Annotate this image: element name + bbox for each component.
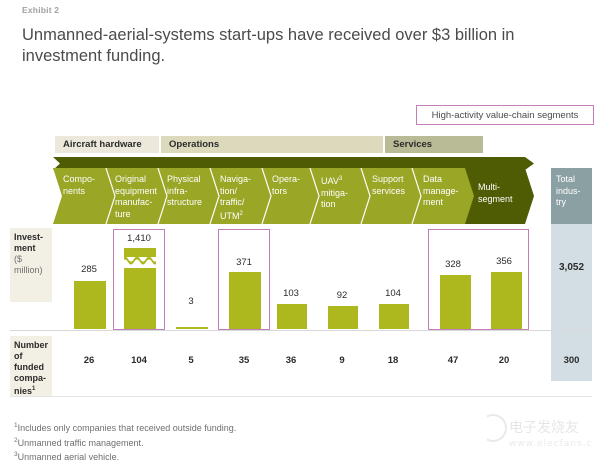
column-header-multi-segment[interactable]: Multi- segment: [478, 168, 528, 224]
column-header-data-management[interactable]: Data manage- ment: [423, 168, 469, 224]
count-multi-segment: 20: [481, 355, 527, 366]
count-oem: 104: [113, 355, 165, 366]
footnote-2: 2Unmanned traffic management.: [14, 435, 236, 450]
count-components: 26: [63, 355, 115, 366]
column-header-total-industry[interactable]: Total indus- try: [551, 168, 592, 224]
group-band-label: Aircraft hardware: [63, 139, 142, 150]
count-physical-infrastructure: 5: [165, 355, 217, 366]
bar-value-oem: 1,410: [113, 233, 165, 244]
footnotes: 1Includes only companies that received o…: [14, 420, 236, 464]
bar-value-navigation: 371: [218, 257, 270, 268]
bar-value-data-management: 328: [430, 259, 476, 270]
bar-value-operators: 103: [269, 288, 313, 299]
bar-navigation: [229, 272, 261, 329]
count-uav-mitigation: 9: [320, 355, 364, 366]
watermark: 电子发烧友 www.elecfans.com: [487, 408, 593, 456]
page-title: Unmanned-aerial-systems start-ups have r…: [22, 25, 562, 67]
count-support-services: 18: [371, 355, 415, 366]
footer-divider: [10, 396, 592, 397]
column-header-oem[interactable]: Original equipment manufac- ture: [115, 168, 163, 224]
svg-text:电子发烧友: 电子发烧友: [509, 420, 579, 436]
broken-axis-squiggle: [122, 255, 158, 273]
column-header-operators[interactable]: Opera- tors: [272, 168, 314, 224]
legend-high-activity: High-activity value-chain segments: [416, 105, 594, 125]
group-band-services: Services: [385, 136, 483, 153]
column-header-physical-infrastructure[interactable]: Physical infra- structure: [167, 168, 213, 224]
count-data-management: 47: [430, 355, 476, 366]
svg-text:www.elecfans.com: www.elecfans.com: [509, 439, 593, 449]
group-band-label: Operations: [169, 139, 219, 150]
legend-label: High-activity value-chain segments: [432, 110, 579, 121]
bar-multi-segment: [491, 272, 522, 329]
bar-components: [74, 281, 106, 329]
bar-support-services: [379, 304, 409, 329]
count-navigation: 35: [218, 355, 270, 366]
group-band-label: Services: [393, 139, 432, 150]
bar-operators: [277, 304, 307, 329]
count-operators: 36: [269, 355, 313, 366]
total-investment-value: 3,052: [551, 262, 592, 273]
column-header-navigation-traffic-utm[interactable]: Naviga- tion/ traffic/ UTM2: [220, 168, 266, 224]
bar-value-multi-segment: 356: [481, 256, 527, 267]
column-header-row: Compo- nents Original equipment manufac-…: [53, 168, 534, 224]
bar-value-components: 285: [63, 264, 115, 275]
axis-baseline: [10, 330, 592, 331]
bar-value-support-services: 104: [371, 288, 415, 299]
row-label-investment: Invest- ment ($ million): [10, 228, 52, 302]
bar-data-management: [440, 275, 471, 329]
column-header-support-services[interactable]: Support services: [372, 168, 416, 224]
column-header-uav-mitigation[interactable]: UAV3 mitiga- tion: [321, 168, 365, 224]
row-label-funded-companies: Number of funded compa- nies1: [10, 336, 52, 396]
total-companies-value: 300: [551, 355, 592, 366]
footnote-3: 3Unmanned aerial vehicle.: [14, 449, 236, 464]
footnote-1: 1Includes only companies that received o…: [14, 420, 236, 435]
bar-physical-infrastructure: [176, 327, 208, 329]
exhibit-label: Exhibit 2: [22, 5, 59, 15]
group-band-aircraft-hardware: Aircraft hardware: [55, 136, 159, 153]
bar-value-physical-infrastructure: 3: [165, 296, 217, 307]
bar-uav-mitigation: [328, 306, 358, 329]
bar-value-uav-mitigation: 92: [320, 290, 364, 301]
column-header-components[interactable]: Compo- nents: [63, 168, 109, 224]
group-band-operations: Operations: [161, 136, 383, 153]
